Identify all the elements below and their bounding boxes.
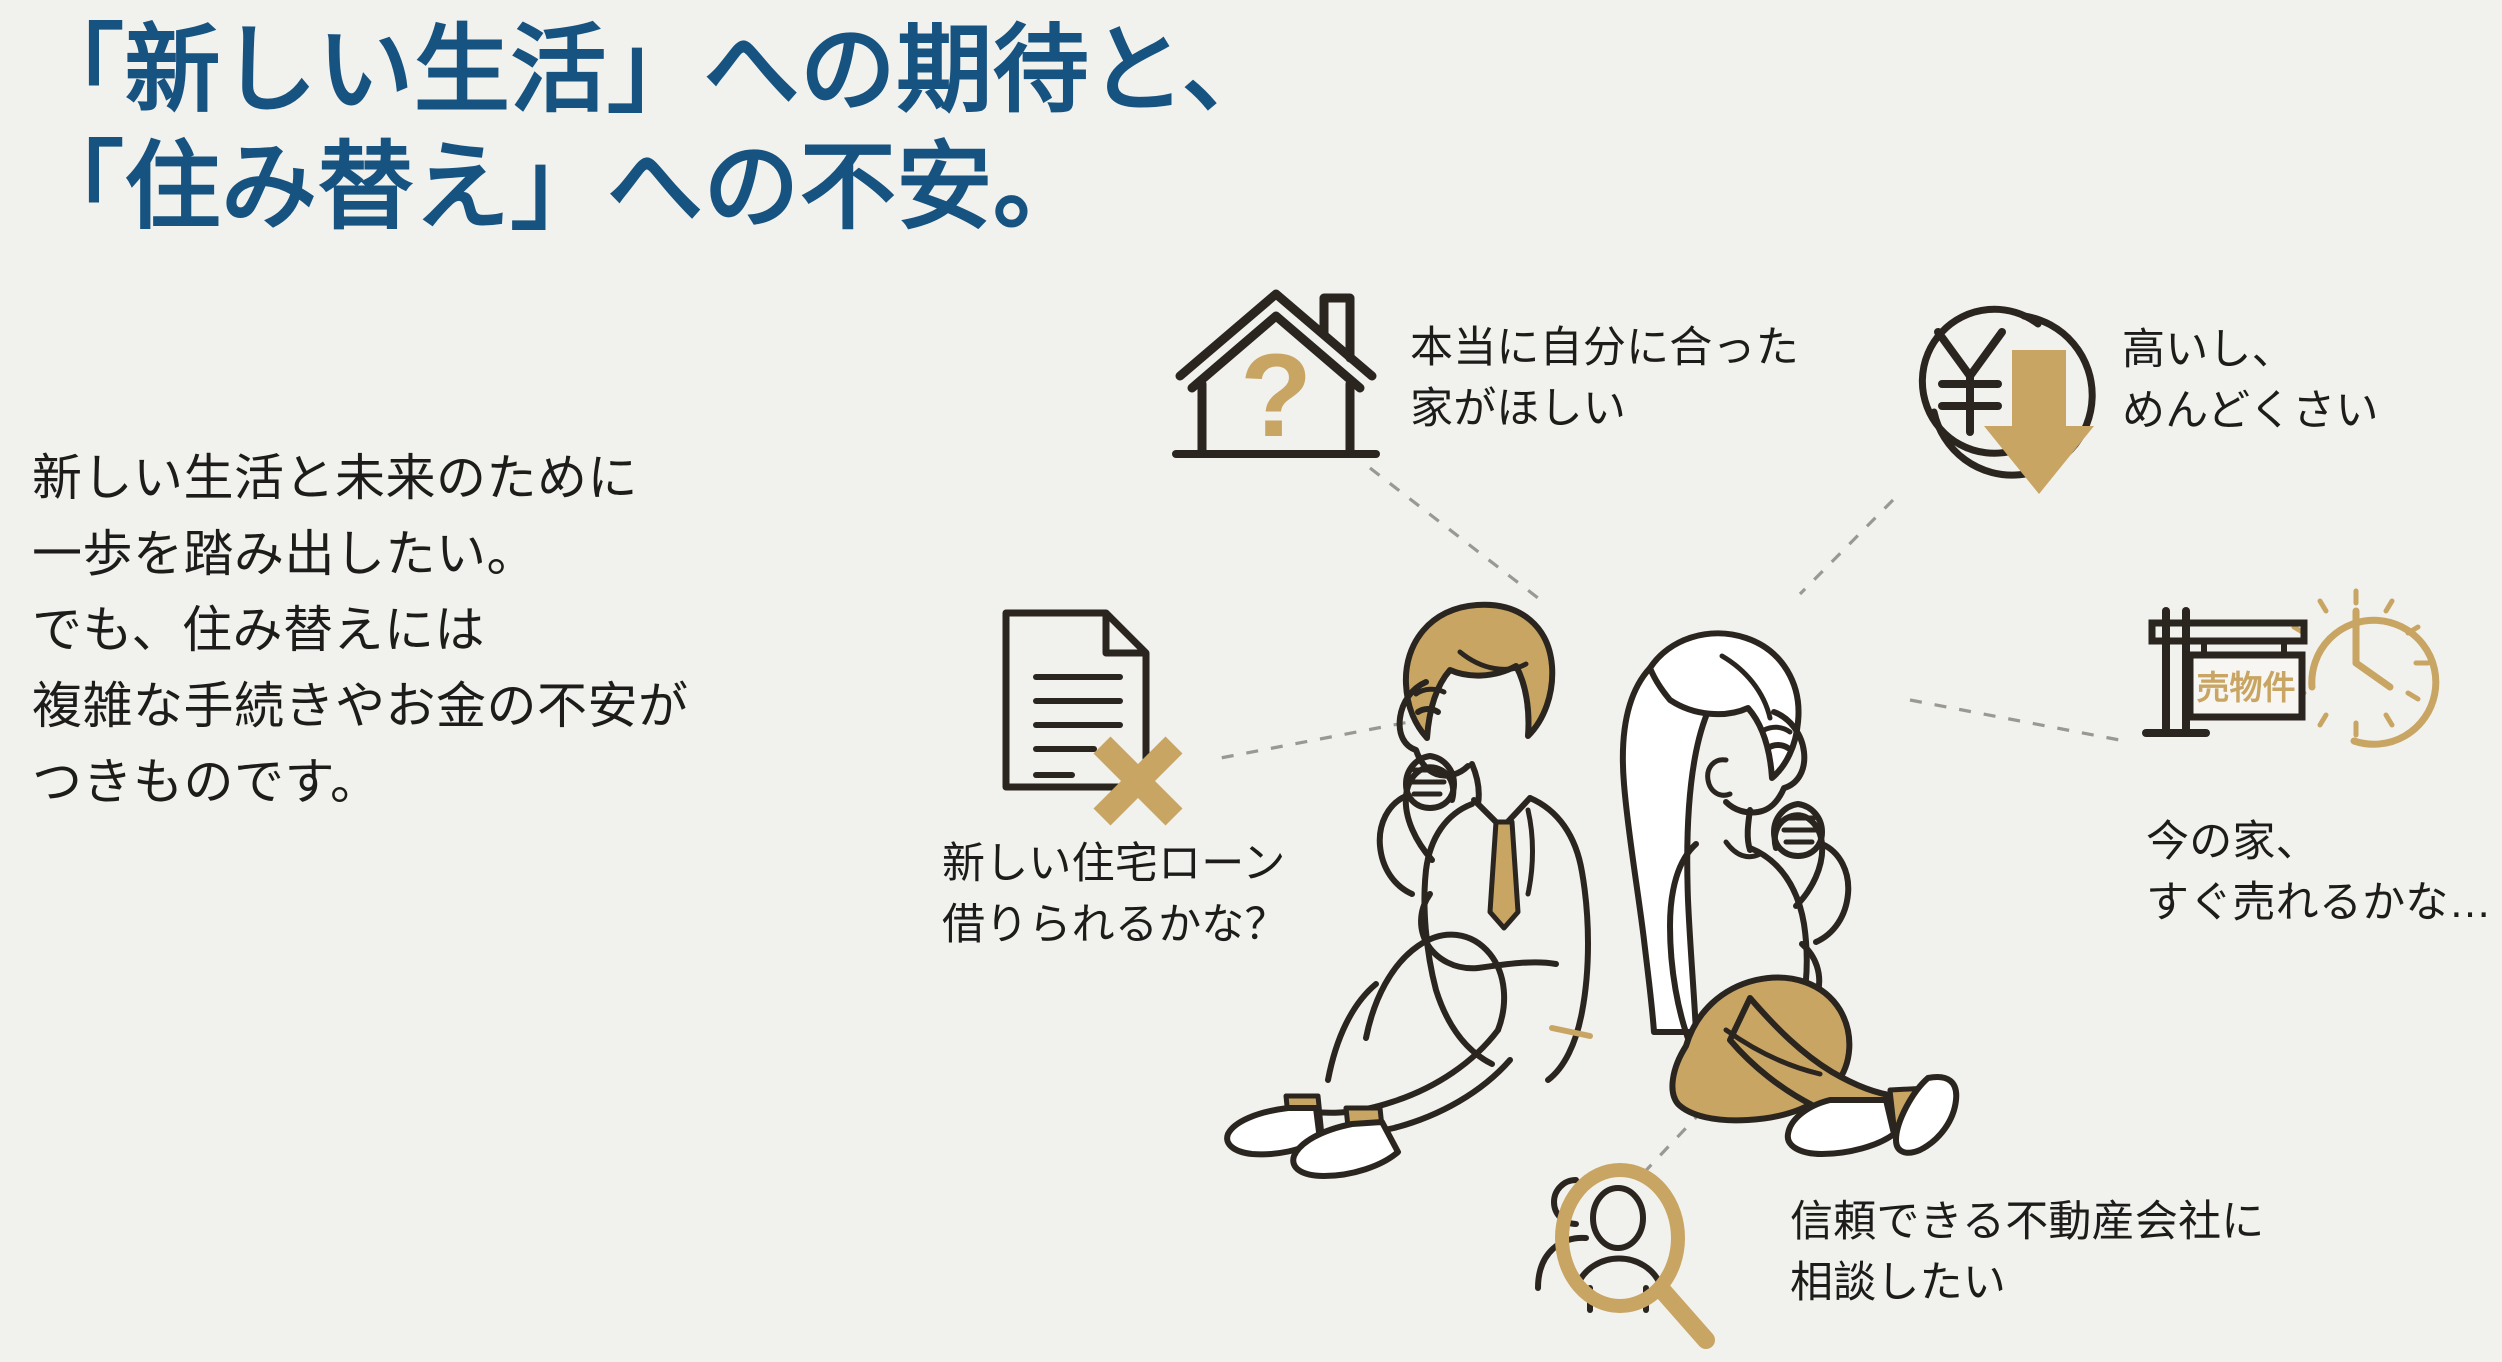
foreground-person-body [1578, 1259, 1660, 1284]
callout-sign-line-2: すぐ売れるかな… [2146, 873, 2492, 934]
lede-line-2: 一歩を踏み出したい。 [32, 516, 852, 592]
lede-line-1: 新しい生活と未来のために [32, 440, 852, 516]
foreground-person-head [1593, 1188, 1643, 1248]
headline-line-1: 「新しい生活」への期待と、 [28, 12, 1208, 129]
man-eye [1418, 709, 1438, 712]
man-jacket-back [1530, 798, 1588, 1080]
callout-house-line-1: 本当に自分に合った [1410, 318, 1799, 379]
person-magnifier-icon [1520, 1160, 1775, 1350]
man-crease-accent [1552, 1028, 1590, 1036]
clock-shape [2294, 591, 2436, 744]
yen-coin-down-arrow-icon [1890, 290, 2112, 506]
man-hand-on-knee [1478, 962, 1556, 968]
callout-agency-text: 信頼できる不動産会社に 相談したい [1790, 1192, 2265, 1314]
woman-ear [1708, 760, 1730, 795]
callout-agency-line-2: 相談したい [1790, 1253, 2265, 1314]
callout-yen-line-2: めんどくさい [2122, 381, 2379, 442]
couple-illustration [1130, 560, 1960, 1170]
page-title: 「新しい生活」への期待と、 「住み替え」への不安。 [28, 12, 1208, 246]
callout-house-question-text: 本当に自分に合った 家がほしい [1410, 318, 1799, 440]
sign-crossbar-shape [2152, 623, 2304, 641]
woman-hair-back [1623, 668, 1736, 1032]
woman-neck [1748, 810, 1750, 850]
sign-board-label: 売物件 [2197, 669, 2296, 706]
callout-yen-text: 高いし、 めんどくさい [2122, 320, 2379, 442]
man-hair [1406, 605, 1552, 738]
callout-sign-text: 今の家、 すぐ売れるかな… [2146, 812, 2492, 934]
callout-agency-line-1: 信頼できる不動産会社に [1790, 1192, 2265, 1253]
lede-line-5: つきものです。 [32, 744, 852, 820]
woman-shoe-near [1788, 1100, 1894, 1154]
headline-line-2: 「住み替え」への不安。 [28, 129, 1208, 246]
house-question-badge: ? [1240, 330, 1312, 462]
lede-line-4: 複雑な手続きやお金の不安が [32, 668, 852, 744]
callout-sign-line-1: 今の家、 [2146, 812, 2492, 873]
for-sale-sign-clock-icon: 売物件 [2140, 575, 2440, 805]
yen-glyph [1938, 332, 2002, 432]
man-lapel [1528, 810, 1533, 894]
callout-yen-line-1: 高いし、 [2122, 320, 2379, 381]
house-question-icon: ? [1176, 284, 1376, 466]
lede-paragraph: 新しい生活と未来のために 一歩を踏み出したい。 でも、住み替えには 複雑な手続き… [32, 440, 852, 820]
slide-canvas: 「新しい生活」への期待と、 「住み替え」への不安。 新しい生活と未来のために 一… [0, 0, 2502, 1362]
callout-house-line-2: 家がほしい [1410, 379, 1799, 440]
lede-line-3: でも、住み替えには [32, 592, 852, 668]
magnifier-handle-shape [1662, 1290, 1706, 1340]
woman-eye [1768, 745, 1788, 748]
man-tie [1490, 822, 1518, 928]
